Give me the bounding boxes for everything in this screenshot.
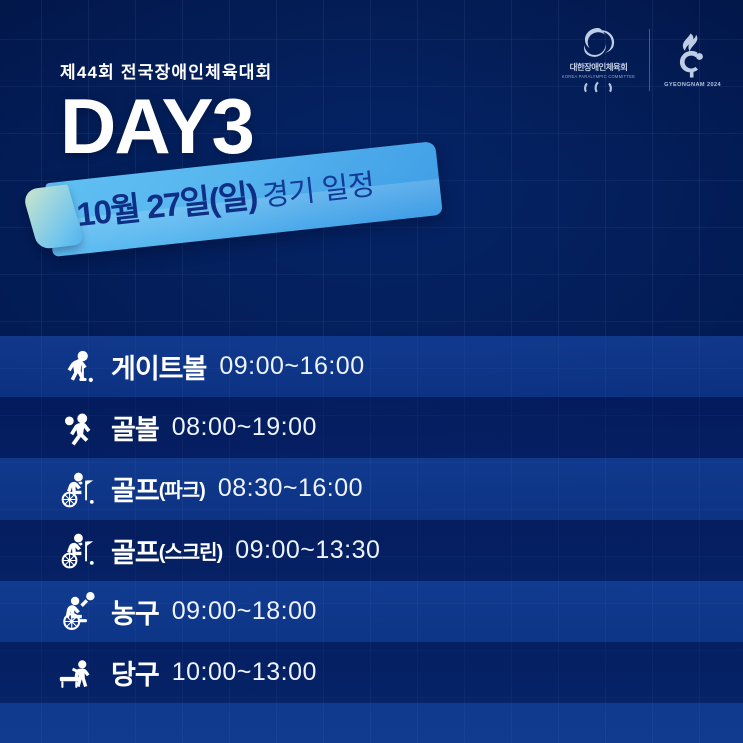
schedule-row[interactable]: 당구 10:00~13:00 <box>0 642 743 703</box>
sport-name: 골프 <box>111 531 159 570</box>
schedule-row[interactable]: 골볼 08:00~19:00 <box>0 397 743 458</box>
event-title: 제44회 전국장애인체육대회 <box>60 58 272 83</box>
headline-block: 제44회 전국장애인체육대회 DAY3 <box>60 58 272 163</box>
schedule-row[interactable]: 게이트볼 09:00~16:00 <box>0 336 743 397</box>
poster-root: 대한장애인체육회 KOREA PARALYMPIC COMMITTEE <box>0 0 743 743</box>
gyeongnam-logo: GYEONGNAM 2024 <box>664 32 721 88</box>
sport-time: 08:00~19:00 <box>172 413 317 442</box>
wheelchair-basketball-icon <box>55 589 99 633</box>
sport-time: 09:00~16:00 <box>219 352 364 381</box>
sport-name: 골프 <box>111 469 159 508</box>
sport-name: 골볼 <box>111 408 159 447</box>
kpc-name-en: KOREA PARALYMPIC COMMITTEE <box>562 74 635 79</box>
schedule-row[interactable]: 골프 (파크) 08:30~16:00 <box>0 458 743 519</box>
gateball-icon <box>55 345 99 389</box>
taegeuk-emblem-icon <box>578 26 618 60</box>
kpc-logo: 대한장애인체육회 KOREA PARALYMPIC COMMITTEE <box>562 26 635 94</box>
sport-time: 09:00~13:30 <box>235 536 380 565</box>
sport-name: 게이트볼 <box>111 347 206 386</box>
gyeongnam-flame-icon <box>673 32 713 78</box>
schedule-row[interactable]: 농구 09:00~18:00 <box>0 581 743 642</box>
sport-name: 당구 <box>111 653 159 692</box>
date-ribbon: 10월 27일(일)경기 일정 <box>30 152 450 256</box>
sport-subtype: (스크린) <box>159 536 223 565</box>
goalball-icon <box>55 406 99 450</box>
sport-time: 08:30~16:00 <box>218 474 363 503</box>
gyeongnam-label: GYEONGNAM 2024 <box>664 82 721 88</box>
schedule-list: 게이트볼 09:00~16:00 골볼 08:00~19:00 <box>0 336 743 743</box>
agitos-icon <box>583 81 613 94</box>
billiards-icon <box>55 651 99 695</box>
screen-golf-icon <box>55 528 99 572</box>
schedule-tail-band <box>0 703 743 743</box>
kpc-name-ko: 대한장애인체육회 <box>570 61 628 73</box>
schedule-row[interactable]: 골프 (스크린) 09:00~13:30 <box>0 520 743 581</box>
sport-subtype: (파크) <box>159 474 205 503</box>
sport-time: 09:00~18:00 <box>172 597 317 626</box>
sport-time: 10:00~13:00 <box>172 658 317 687</box>
park-golf-icon <box>55 467 99 511</box>
sport-name: 농구 <box>111 592 159 631</box>
logo-divider <box>649 29 650 91</box>
logo-group: 대한장애인체육회 KOREA PARALYMPIC COMMITTEE <box>562 26 721 94</box>
